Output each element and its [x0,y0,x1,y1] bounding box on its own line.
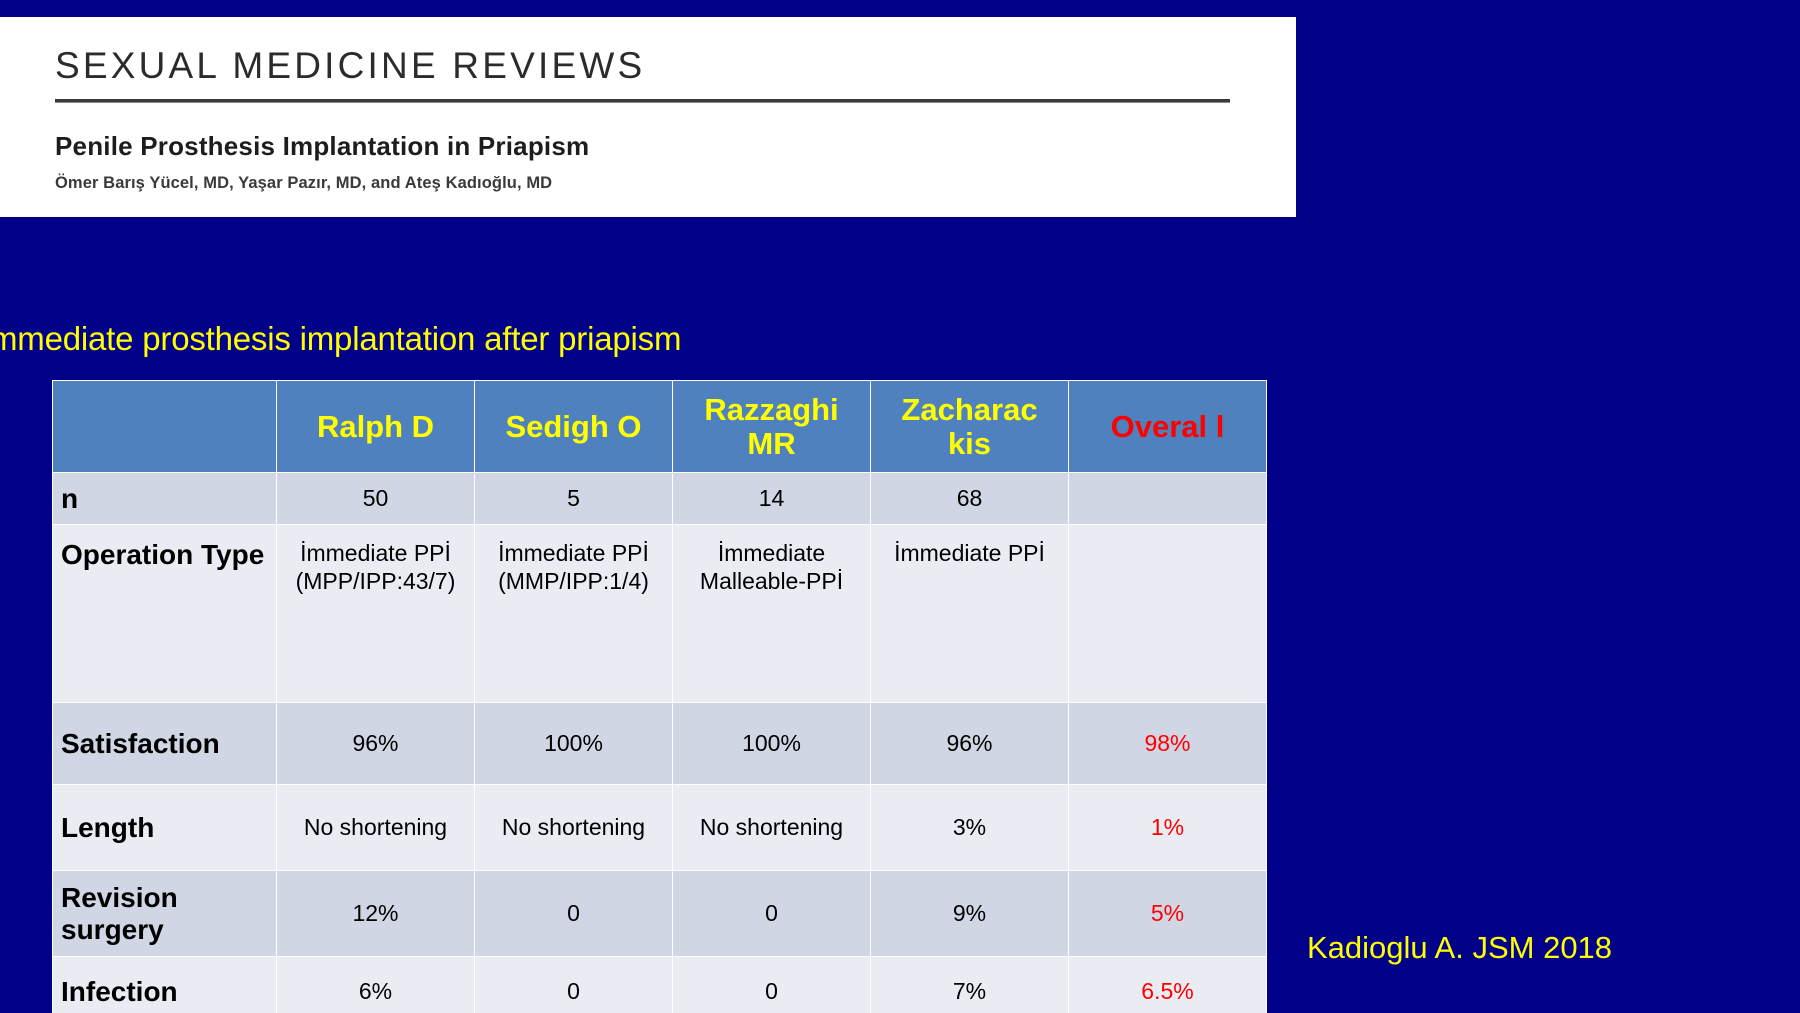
cell-length-ralph-d: No shortening [277,785,475,871]
cell-satisfaction-ralph-d: 96% [277,703,475,785]
column-header-sedigh-o: Sedigh O [475,381,673,473]
cell-satisfaction-zacharackis: 96% [871,703,1069,785]
cell-n-razzaghi: 14 [673,473,871,525]
column-header-overall: Overal l [1069,381,1267,473]
table-row: Revision surgery 12% 0 0 9% 5% [53,871,1267,957]
cell-length-zacharackis: 3% [871,785,1069,871]
cell-revision-surgery-zacharackis: 9% [871,871,1069,957]
cell-operation-type-ralph-d: İmmediate PPİ (MPP/IPP:43/7) [277,525,475,703]
journal-article-title: Penile Prosthesis Implantation in Priapi… [55,131,1288,162]
cell-infection-razzaghi: 0 [673,957,871,1013]
row-label-n: n [53,473,277,525]
cell-length-razzaghi: No shortening [673,785,871,871]
cell-satisfaction-sedigh-o: 100% [475,703,673,785]
cell-operation-type-overall [1069,525,1267,703]
table-row: Length No shortening No shortening No sh… [53,785,1267,871]
cell-operation-type-sedigh-o: İmmediate PPİ (MMP/IPP:1/4) [475,525,673,703]
row-label-infection: Infection [53,957,277,1013]
cell-satisfaction-overall: 98% [1069,703,1267,785]
column-header-blank [53,381,277,473]
row-label-operation-type: Operation Type [53,525,277,703]
cell-length-sedigh-o: No shortening [475,785,673,871]
cell-n-overall [1069,473,1267,525]
cell-n-ralph-d: 50 [277,473,475,525]
table-row: n 50 5 14 68 [53,473,1267,525]
cell-operation-type-zacharackis: İmmediate PPİ [871,525,1069,703]
cell-infection-overall: 6.5% [1069,957,1267,1013]
column-header-ralph-d: Ralph D [277,381,475,473]
cell-n-sedigh-o: 5 [475,473,673,525]
table-header-row: Ralph D Sedigh O Razzaghi MR Zacharac ki… [53,381,1267,473]
cell-length-overall: 1% [1069,785,1267,871]
row-label-length: Length [53,785,277,871]
cell-n-zacharackis: 68 [871,473,1069,525]
results-table: Ralph D Sedigh O Razzaghi MR Zacharac ki… [52,380,1267,1013]
cell-revision-surgery-razzaghi: 0 [673,871,871,957]
journal-author-list: Ömer Barış Yücel, MD, Yaşar Pazır, MD, a… [55,174,1288,193]
cell-infection-sedigh-o: 0 [475,957,673,1013]
journal-masthead: SEXUAL MEDICINE REVIEWS [55,39,1288,84]
cell-revision-surgery-ralph-d: 12% [277,871,475,957]
table-header: Ralph D Sedigh O Razzaghi MR Zacharac ki… [53,381,1267,473]
cell-satisfaction-razzaghi: 100% [673,703,871,785]
cell-infection-zacharackis: 7% [871,957,1069,1013]
table-row: Infection 6% 0 0 7% 6.5% [53,957,1267,1013]
column-header-razzaghi-mr: Razzaghi MR [673,381,871,473]
cell-revision-surgery-overall: 5% [1069,871,1267,957]
results-table-container: Ralph D Sedigh O Razzaghi MR Zacharac ki… [52,380,1266,1013]
row-label-satisfaction: Satisfaction [53,703,277,785]
cell-operation-type-razzaghi: İmmediate Malleable-PPİ [673,525,871,703]
table-row: Operation Type İmmediate PPİ (MPP/IPP:43… [53,525,1267,703]
journal-divider-rule [55,99,1230,103]
cell-infection-ralph-d: 6% [277,957,475,1013]
table-row: Satisfaction 96% 100% 100% 96% 98% [53,703,1267,785]
column-header-zacharackis: Zacharac kis [871,381,1069,473]
slide-heading: mmediate prosthesis implantation after p… [0,320,890,358]
journal-header-image: SEXUAL MEDICINE REVIEWS Penile Prosthesi… [0,17,1296,217]
cell-revision-surgery-sedigh-o: 0 [475,871,673,957]
table-body: n 50 5 14 68 Operation Type İmmediate PP… [53,473,1267,1013]
row-label-revision-surgery: Revision surgery [53,871,277,957]
citation-text: Kadioglu A. JSM 2018 [1307,930,1612,966]
